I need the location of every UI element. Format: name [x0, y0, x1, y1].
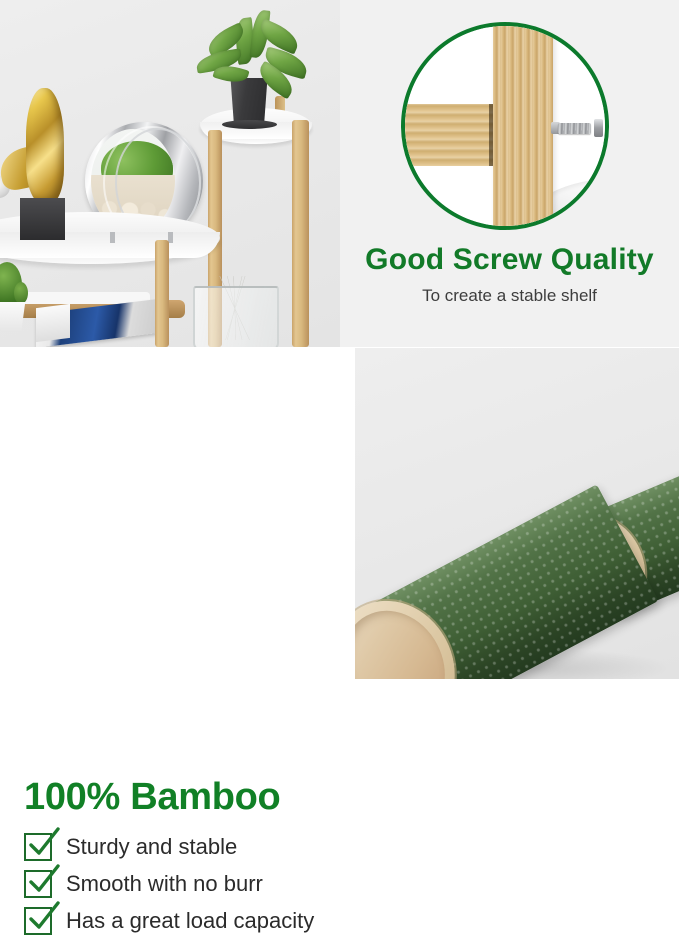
bamboo-leg-middle: [155, 240, 169, 347]
screw-closeup-circle: [401, 22, 609, 230]
claim-label: Sturdy and stable: [66, 834, 237, 860]
bamboo-post: [493, 22, 553, 230]
checkbox-checked-icon: [24, 833, 52, 861]
screw-detail-panel: Good Screw Quality To create a stable sh…: [340, 0, 679, 347]
screw-thread: [558, 123, 591, 134]
claim-label: Smooth with no burr: [66, 871, 263, 897]
bamboo-culms-panel: [355, 348, 679, 679]
metal-screw: [551, 119, 603, 137]
checkbox-checked-icon: [24, 870, 52, 898]
claim-item-1: Sturdy and stable: [24, 833, 237, 861]
terrarium-foot: [110, 232, 115, 243]
bamboo-leg-right: [292, 120, 309, 347]
claim-item-3: Has a great load capacity: [24, 907, 314, 935]
magazine-pages: [36, 304, 70, 342]
gold-face-sculpture: [26, 88, 64, 203]
checkbox-checked-icon: [24, 907, 52, 935]
screw-detail-subtitle: To create a stable shelf: [340, 286, 679, 306]
claim-label: Has a great load capacity: [66, 908, 314, 934]
dark-grey-pot: [228, 78, 270, 124]
cactus-arm: [14, 282, 28, 304]
infographic-canvas: Good Screw Quality To create a stable sh…: [0, 0, 679, 679]
glass-vase: [193, 286, 279, 347]
black-cube-base: [20, 198, 65, 240]
screw-detail-title: Good Screw Quality: [340, 243, 679, 277]
claims-title: 100% Bamboo: [24, 776, 280, 819]
pot-saucer: [222, 120, 277, 129]
bamboo-cross-brace: [401, 104, 495, 166]
bamboo-claims-panel: 100% Bamboo Sturdy and stable Smooth wit…: [0, 348, 352, 679]
product-photo-panel: [0, 0, 340, 347]
screw-head: [594, 119, 603, 137]
claim-item-2: Smooth with no burr: [24, 870, 263, 898]
